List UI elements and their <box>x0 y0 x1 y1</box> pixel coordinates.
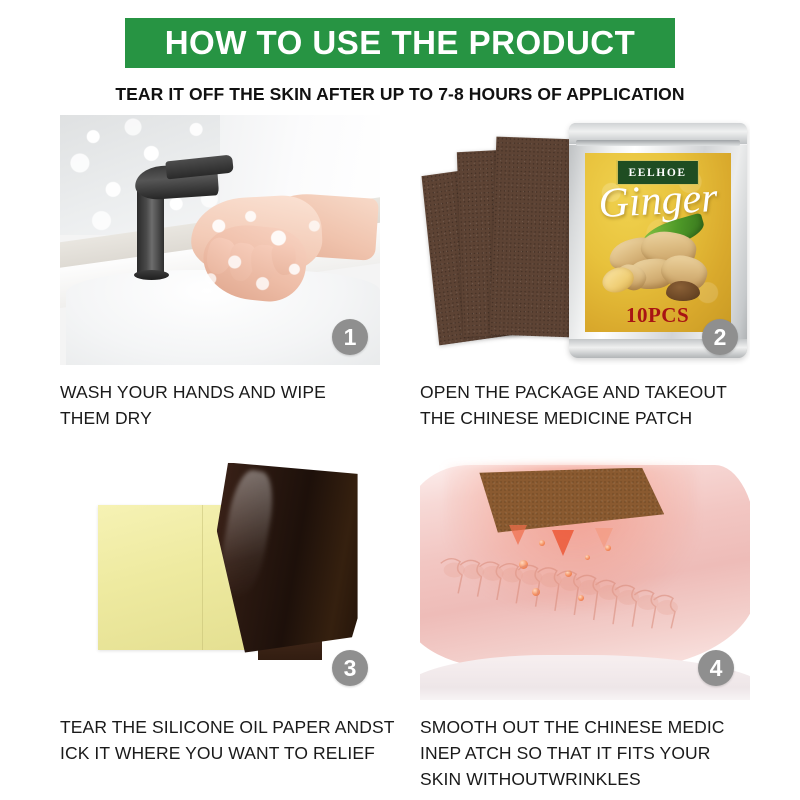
product-label: EELHOE Ginger 10P <box>585 153 731 332</box>
step-4-caption: SMOOTH OUT THE CHINESE MEDIC INEP ATCH S… <box>420 714 750 792</box>
step-2-caption: OPEN THE PACKAGE AND TAKEOUT THE CHINESE… <box>420 379 750 431</box>
step-badge-3: 3 <box>332 650 368 686</box>
pouch-zip-line <box>576 140 740 146</box>
step-badge-1: 1 <box>332 319 368 355</box>
step-2-photo: EELHOE Ginger 10P <box>420 115 750 365</box>
header-banner: HOW TO USE THE PRODUCT <box>125 18 675 68</box>
step-card-1: 1 WASH YOUR HANDS AND WIPE THEM DRY <box>60 115 380 445</box>
spine-vertebrae-illustration <box>433 545 723 645</box>
caption-line: SKIN WITHOUTWRINKLES <box>420 766 750 792</box>
sink-scene <box>60 115 380 365</box>
caption-line: INEP ATCH SO THAT IT FITS YOUR <box>420 740 750 766</box>
faucet-base <box>134 270 169 280</box>
caption-line: ICK IT WHERE YOU WANT TO RELIEF <box>60 740 380 766</box>
caption-line: SMOOTH OUT THE CHINESE MEDIC <box>420 714 750 740</box>
caption-line: THEM DRY <box>60 405 380 431</box>
quantity-label: 10PCS <box>626 303 689 328</box>
caption-line: THE CHINESE MEDICINE PATCH <box>420 405 750 431</box>
step-badge-2: 2 <box>702 319 738 355</box>
washing-hands <box>175 190 373 310</box>
page-title: HOW TO USE THE PRODUCT <box>165 24 636 62</box>
soap-suds <box>175 190 373 310</box>
page-subtitle: TEAR IT OFF THE SKIN AFTER UP TO 7-8 HOU… <box>0 84 800 105</box>
step-card-4: 4 SMOOTH OUT THE CHINESE MEDIC INEP ATCH… <box>420 450 750 795</box>
step-badge-4: 4 <box>698 650 734 686</box>
caption-line: TEAR THE SILICONE OIL PAPER ANDST <box>60 714 380 740</box>
package-scene: EELHOE Ginger 10P <box>420 115 750 365</box>
ginger-root-illustration <box>602 224 716 303</box>
ginger-powder <box>666 281 700 301</box>
patch-sheet <box>489 136 582 336</box>
step-card-3: 3 TEAR THE SILICONE OIL PAPER ANDST ICK … <box>60 450 380 785</box>
caption-line: WASH YOUR HANDS AND WIPE <box>60 379 380 405</box>
step-1-caption: WASH YOUR HANDS AND WIPE THEM DRY <box>60 379 380 431</box>
caption-line: OPEN THE PACKAGE AND TAKEOUT <box>420 379 750 405</box>
step-4-photo: 4 <box>420 450 750 700</box>
heat-arrow-icon <box>509 525 527 545</box>
steps-grid: 1 WASH YOUR HANDS AND WIPE THEM DRY EELH… <box>0 115 800 795</box>
step-3-caption: TEAR THE SILICONE OIL PAPER ANDST ICK IT… <box>60 714 380 766</box>
step-3-photo: 3 <box>60 450 380 700</box>
step-card-2: EELHOE Ginger 10P <box>420 115 750 445</box>
step-1-photo: 1 <box>60 115 380 365</box>
